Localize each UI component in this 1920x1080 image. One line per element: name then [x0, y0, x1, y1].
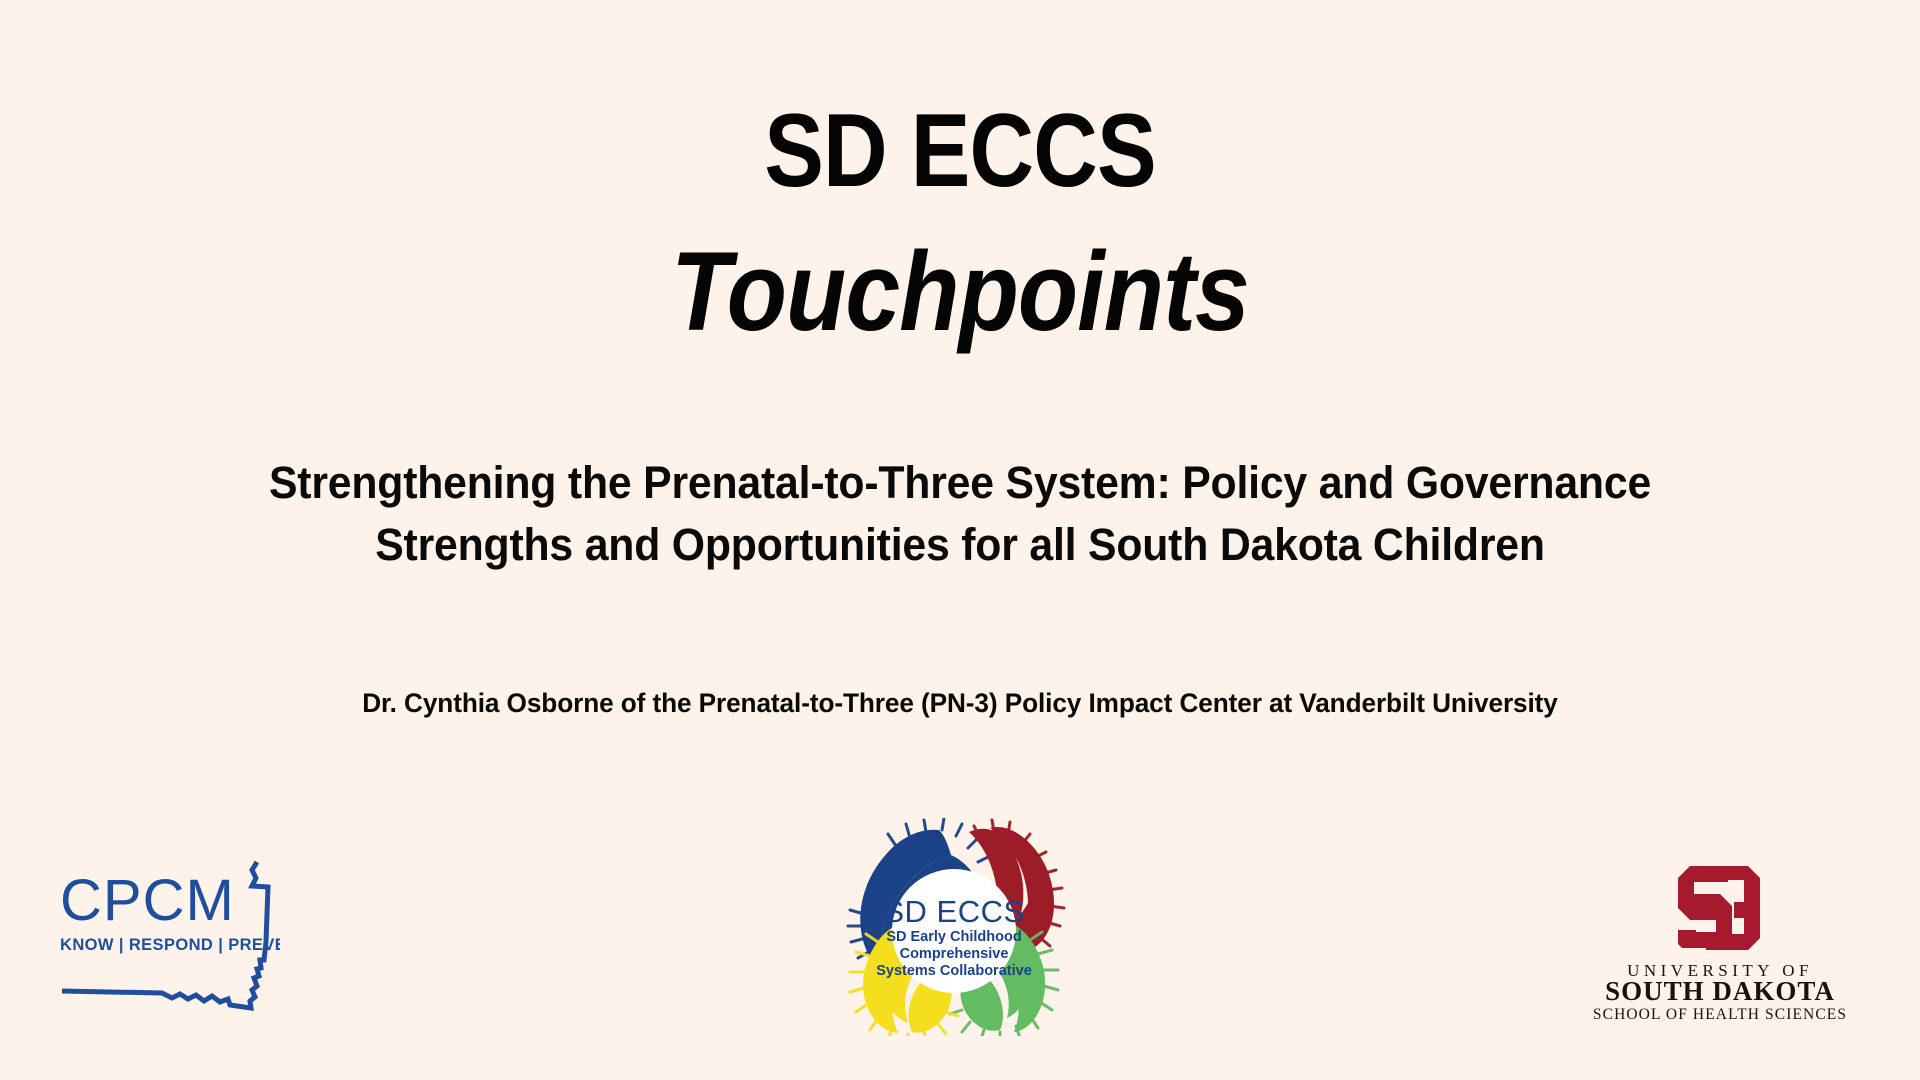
slide-subtitle-line-1: Strengthening the Prenatal-to-Three Syst…	[72, 452, 1849, 514]
sd-eccs-sub-line-2: Comprehensive	[900, 946, 1009, 962]
slide-subtitle-line-2: Strengths and Opportunities for all Sout…	[72, 514, 1849, 576]
title-block: SD ECCS Touchpoints	[0, 96, 1920, 353]
cpcm-tagline: KNOW | RESPOND | PREVENT	[60, 936, 280, 954]
title-slide: SD ECCS Touchpoints Strengthening the Pr…	[0, 0, 1920, 1080]
cpcm-logo: CPCM KNOW | RESPOND | PREVENT	[52, 856, 280, 1016]
usd-sd-monogram-icon	[1678, 866, 1760, 950]
slide-subtitle: Strengthening the Prenatal-to-Three Syst…	[72, 452, 1849, 576]
slide-title-italic: Touchpoints	[115, 232, 1805, 353]
sd-eccs-sub-line-1: SD Early Childhood	[886, 929, 1021, 945]
cpcm-logo-graphic: CPCM KNOW | RESPOND | PREVENT	[52, 856, 280, 1016]
slide-title-main: SD ECCS	[134, 96, 1785, 206]
usd-line-2: SOUTH DAKOTA	[1605, 976, 1835, 1006]
usd-line-3: SCHOOL OF HEALTH SCIENCES	[1593, 1006, 1847, 1023]
sd-eccs-sub-line-3: Systems Collaborative	[876, 963, 1032, 979]
usd-logo-graphic: UNIVERSITY OF SOUTH DAKOTA SCHOOL OF HEA…	[1584, 848, 1856, 1024]
sd-eccs-logo-graphic: SD ECCS SD Early Childhood Comprehensive…	[838, 818, 1070, 1036]
cpcm-wordmark: CPCM	[60, 868, 235, 933]
university-of-south-dakota-logo: UNIVERSITY OF SOUTH DAKOTA SCHOOL OF HEA…	[1584, 848, 1856, 1024]
sd-eccs-headline: SD ECCS	[883, 894, 1024, 929]
sd-eccs-logo: SD ECCS SD Early Childhood Comprehensive…	[838, 818, 1070, 1036]
presenter-credit: Dr. Cynthia Osborne of the Prenatal-to-T…	[29, 688, 1891, 719]
